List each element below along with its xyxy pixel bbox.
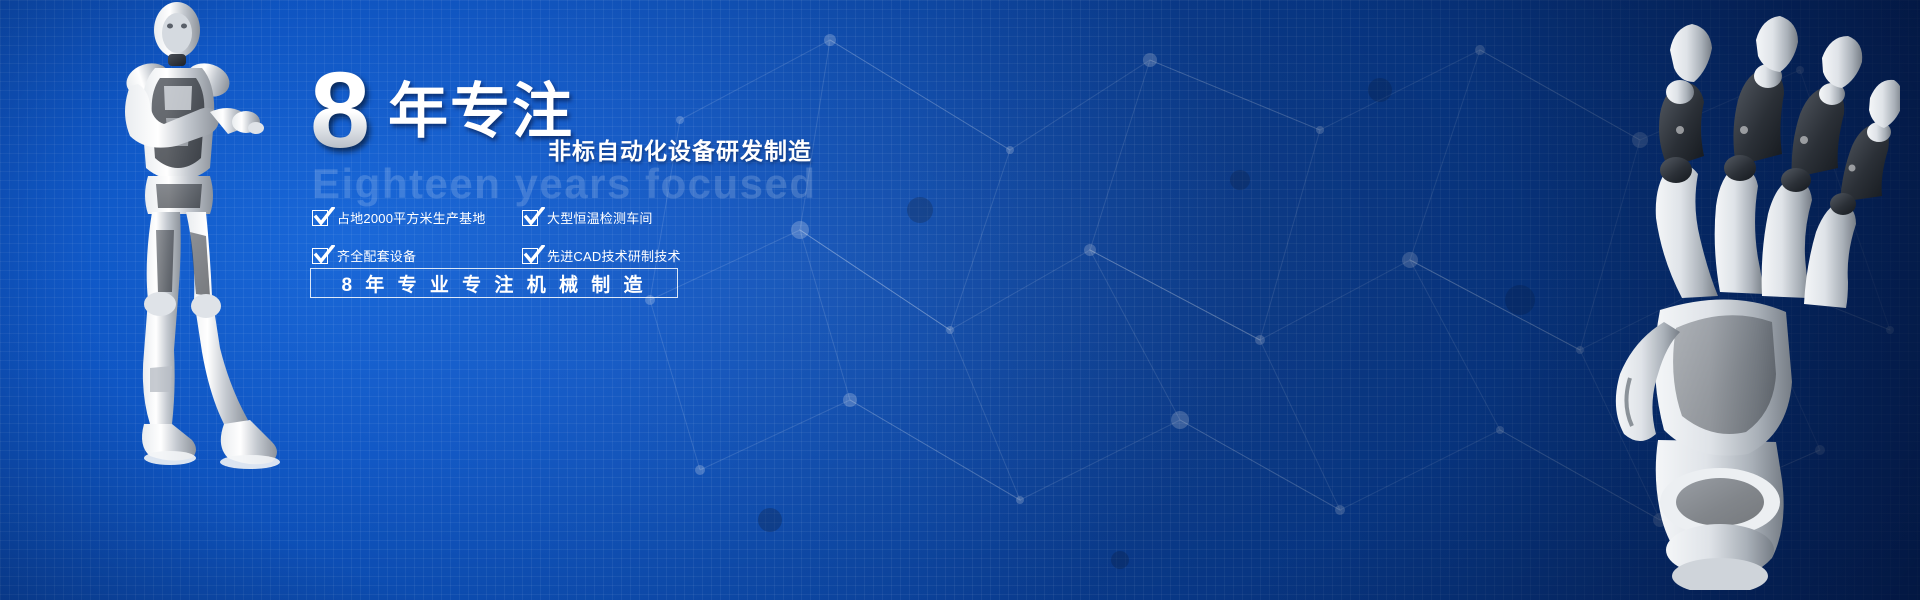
check-icon xyxy=(312,248,328,264)
feature-label: 占地2000平方米生产基地 xyxy=(337,208,486,227)
check-icon xyxy=(522,248,538,264)
robotic-hand-figure xyxy=(1540,10,1900,590)
feature-label: 大型恒温检测车间 xyxy=(547,208,653,227)
feature-item: 先进CAD技术研制技术 xyxy=(522,246,732,265)
feature-list: 占地2000平方米生产基地 大型恒温检测车间 齐全配套设备 先进CAD技术研制技… xyxy=(312,208,732,265)
slogan-box: 8 年 专 业 专 注 机 械 制 造 xyxy=(310,268,678,298)
check-icon xyxy=(312,210,328,226)
check-icon xyxy=(522,210,538,226)
ghost-english-text: Eighteen years focused xyxy=(312,160,817,208)
banner-content: 8 年专注 非标自动化设备研发制造 Eighteen years focused… xyxy=(310,70,1030,155)
slogan-text: 8 年 专 业 专 注 机 械 制 造 xyxy=(341,270,646,297)
feature-label: 先进CAD技术研制技术 xyxy=(547,246,681,265)
feature-item: 大型恒温检测车间 xyxy=(522,208,732,227)
feature-item: 占地2000平方米生产基地 xyxy=(312,208,522,227)
feature-item: 齐全配套设备 xyxy=(312,246,522,265)
headline-group: 8 年专注 非标自动化设备研发制造 xyxy=(310,70,1030,155)
hero-banner: 8 年专注 非标自动化设备研发制造 Eighteen years focused… xyxy=(0,0,1920,600)
humanoid-robot-figure xyxy=(60,0,290,490)
feature-label: 齐全配套设备 xyxy=(337,246,416,265)
headline-rest: 年专注 xyxy=(388,82,574,142)
headline-number: 8 xyxy=(310,56,368,164)
